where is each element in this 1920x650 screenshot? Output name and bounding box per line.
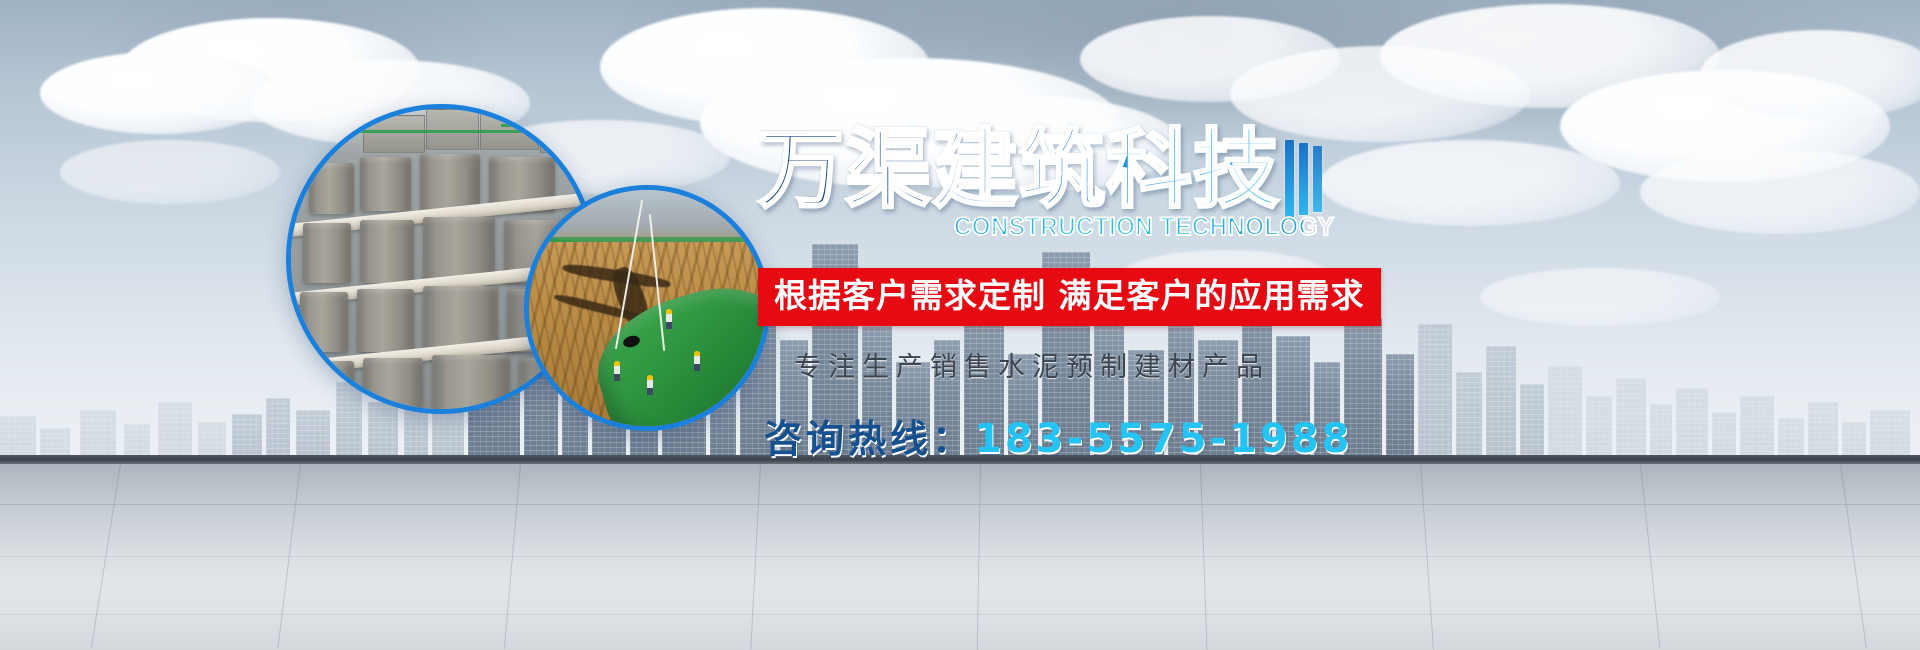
- brand-subtitle: CONSTRUCTION TECHNOLOGY: [954, 212, 1303, 242]
- worker-figure: [647, 379, 653, 394]
- worker-figure: [666, 313, 672, 328]
- tagline: 专注生产销售水泥预制建材产品: [794, 352, 1318, 384]
- hotline-number[interactable]: 183-5575-1988: [974, 416, 1352, 462]
- brand-subtitle-row: CONSTRUCTION TECHNOLOGY: [758, 212, 1318, 246]
- hotline-label: 咨询热线：: [764, 417, 974, 461]
- worker-figure: [694, 355, 700, 370]
- reflective-floor: [0, 464, 1920, 650]
- highlight-banner: 根据客户需求定制 满足客户的应用需求: [758, 268, 1381, 326]
- worker-figure: [614, 365, 620, 380]
- photo-circle-tank-installation: [524, 185, 770, 431]
- banner-content: 万渠建筑科技 CONSTRUCTION TECHNOLOGY 根据客户需求定制 …: [758, 120, 1318, 463]
- hotline-row: 咨询热线：183-5575-1988: [764, 408, 1318, 463]
- septic-tank-photo: [529, 190, 765, 426]
- page-title: 万渠建筑科技: [758, 120, 1318, 220]
- promo-banner: 万渠建筑科技 CONSTRUCTION TECHNOLOGY 根据客户需求定制 …: [0, 0, 1920, 650]
- title-bars-icon: [1285, 140, 1322, 218]
- highlight-text: 根据客户需求定制 满足客户的应用需求: [774, 277, 1365, 315]
